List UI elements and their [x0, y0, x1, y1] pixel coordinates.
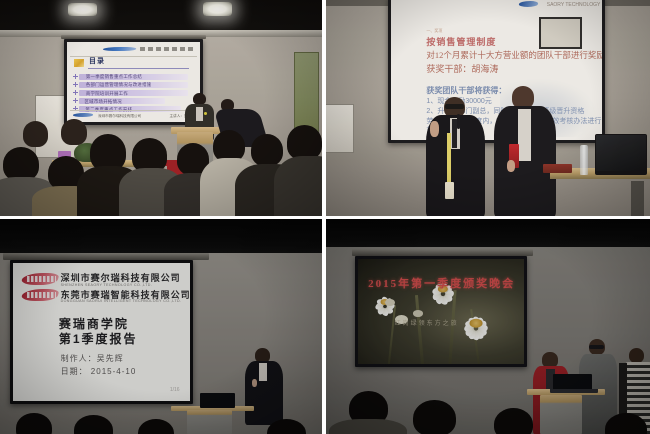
slide-title: 2015年第一季度颁奖晚会: [368, 275, 515, 291]
slide-line-2: 对12个月累计十大方营业额的团队干部进行奖励: [426, 49, 601, 61]
projection-screen[interactable]: 2015年第一季度颁奖晚会 红岗绿领东方之旅: [355, 256, 527, 368]
agenda-item: 商学院培训开展工作: [79, 90, 188, 96]
brand-swoosh-icon: [103, 47, 137, 51]
water-bottle: [580, 145, 588, 175]
presenter-shirt: [196, 107, 204, 121]
brand-logo-icon: [519, 1, 539, 7]
report-author: 制作人：吴先辉: [61, 353, 124, 364]
slide-line-3: 获奖干部：胡海涛: [426, 62, 498, 75]
glasses-icon: [445, 104, 464, 109]
agenda-item: 区域市场开拓情况: [79, 98, 165, 104]
audience-head: [61, 119, 87, 145]
slide-header-company: [140, 47, 196, 51]
slide-footer: 深圳市赛尔瑞科技有限公司 主讲人：吴先辉: [70, 110, 197, 119]
laptop[interactable]: [200, 393, 235, 408]
bullet-plus-icon: [73, 82, 78, 87]
award-recipient: [494, 86, 556, 216]
bullet-plus-icon: [73, 90, 78, 95]
podium: [187, 410, 232, 434]
slide-subtitle: 红岗绿领东方之旅: [395, 318, 459, 327]
photo-panel-bottom-right[interactable]: 2015年第一季度颁奖晚会 红岗绿领东方之旅: [326, 219, 650, 434]
slide-page-number: 1/16: [170, 387, 180, 393]
slide-eyebrow: 一、奖项: [426, 28, 442, 34]
report-title-line-2: 第1季度报告: [59, 330, 138, 347]
slide-title-report: 深圳市赛尔瑞科技有限公司 SHENZHEN SEAORY TECHNOLOGY …: [13, 263, 191, 401]
whiteboard: [326, 104, 354, 154]
desk-leg: [631, 181, 644, 216]
glasses-icon: [589, 345, 605, 349]
audience-head: [413, 400, 455, 434]
photo-collage: 目录 第一季度销售重点工作总结 各部门运营管理情况与改进措施 商学院培训开展工作: [0, 0, 650, 434]
agenda-item-label: 第一季度销售重点工作总结: [86, 74, 142, 80]
hand: [252, 379, 257, 387]
title-rule: [88, 68, 189, 69]
speaker-with-microphone: [426, 97, 484, 216]
slide-heading: 按销售管理制度: [426, 35, 496, 48]
agenda-item-label: 各部门运营管理情况与改进措施: [86, 82, 152, 88]
laptop-base: [550, 389, 599, 393]
agenda-item-label: 商学院培训开展工作: [86, 91, 128, 97]
ceiling-light-icon: [203, 2, 232, 16]
logo-theory: [22, 289, 58, 301]
footer-logo-icon: [72, 113, 93, 117]
hand: [507, 160, 516, 172]
photo-panel-top-left[interactable]: 目录 第一季度销售重点工作总结 各部门运营管理情况与改进措施 商学院培训开展工作: [0, 0, 322, 216]
agenda-item: 第一季度销售重点工作总结: [79, 74, 188, 80]
ceiling-light-icon: [68, 3, 97, 16]
slide-brand-sub: SAORY TECHNOLOGY: [547, 2, 601, 8]
slide-agenda: 目录 第一季度销售重点工作总结 各部门运营管理情况与改进措施 商学院培训开展工作: [67, 42, 199, 122]
podium: [540, 395, 582, 434]
slide-header: [70, 45, 197, 56]
agenda-item: 各部门运营管理情况与改进措施: [79, 82, 188, 88]
logo-exory: [22, 273, 58, 285]
projection-screen[interactable]: 目录 第一季度销售重点工作总结 各部门运营管理情况与改进措施 商学院培训开展工作: [64, 39, 202, 125]
badge: [445, 182, 454, 199]
photo-panel-top-right[interactable]: SAORY TECHNOLOGY 一、奖项 按销售管理制度 对12个月累计十大方…: [326, 0, 650, 216]
monitor[interactable]: [595, 134, 647, 175]
audience-shoulders: [329, 419, 407, 434]
audience-shoulders: [274, 156, 322, 216]
report-date: 日期： 2015-4-10: [61, 366, 137, 377]
ceiling: [326, 219, 650, 249]
company-name-1-en: SHENZHEN SEAORY TECHNOLOGY CO.,LTD.: [61, 283, 153, 287]
audience-head: [494, 408, 533, 434]
bullet-plus-icon: [73, 98, 78, 103]
presenter: [245, 348, 284, 425]
screen-housing: [352, 249, 533, 255]
projection-screen[interactable]: 深圳市赛尔瑞科技有限公司 SHENZHEN SEAORY TECHNOLOGY …: [10, 260, 194, 404]
lanyard: [447, 133, 450, 187]
audience-head: [23, 121, 49, 147]
slide-title-block: 目录: [74, 58, 189, 69]
audience-head: [251, 134, 283, 166]
photo-panel-bottom-left[interactable]: 深圳市赛尔瑞科技有限公司 SHENZHEN SEAORY TECHNOLOGY …: [0, 219, 322, 434]
footer-company: 深圳市赛尔瑞科技有限公司: [98, 114, 141, 119]
microphone-icon: [457, 114, 460, 129]
red-book: [543, 164, 572, 173]
flower-bud: [385, 299, 395, 306]
audience-head: [90, 134, 125, 171]
slide-daisies: 2015年第一季度颁奖晚会 红岗绿领东方之旅: [358, 259, 524, 365]
agenda-item-label: 区域市场开拓情况: [84, 99, 122, 105]
recipient-shirt: [518, 109, 532, 162]
screen-housing: [3, 253, 209, 259]
presenter-shirt: [259, 363, 267, 382]
flower-bud: [413, 310, 423, 316]
audience-head: [287, 125, 322, 160]
company-name-2-en: DONGGUAN SAORUI INTELLIGENT TECHNOLOGY C…: [61, 299, 182, 303]
ceiling: [0, 219, 322, 256]
slide-title: 目录: [89, 58, 105, 66]
wall-frame: [539, 17, 582, 49]
title-tile-icon: [74, 59, 84, 67]
bullet-plus-icon: [73, 74, 78, 79]
raised-hand: [430, 121, 439, 137]
